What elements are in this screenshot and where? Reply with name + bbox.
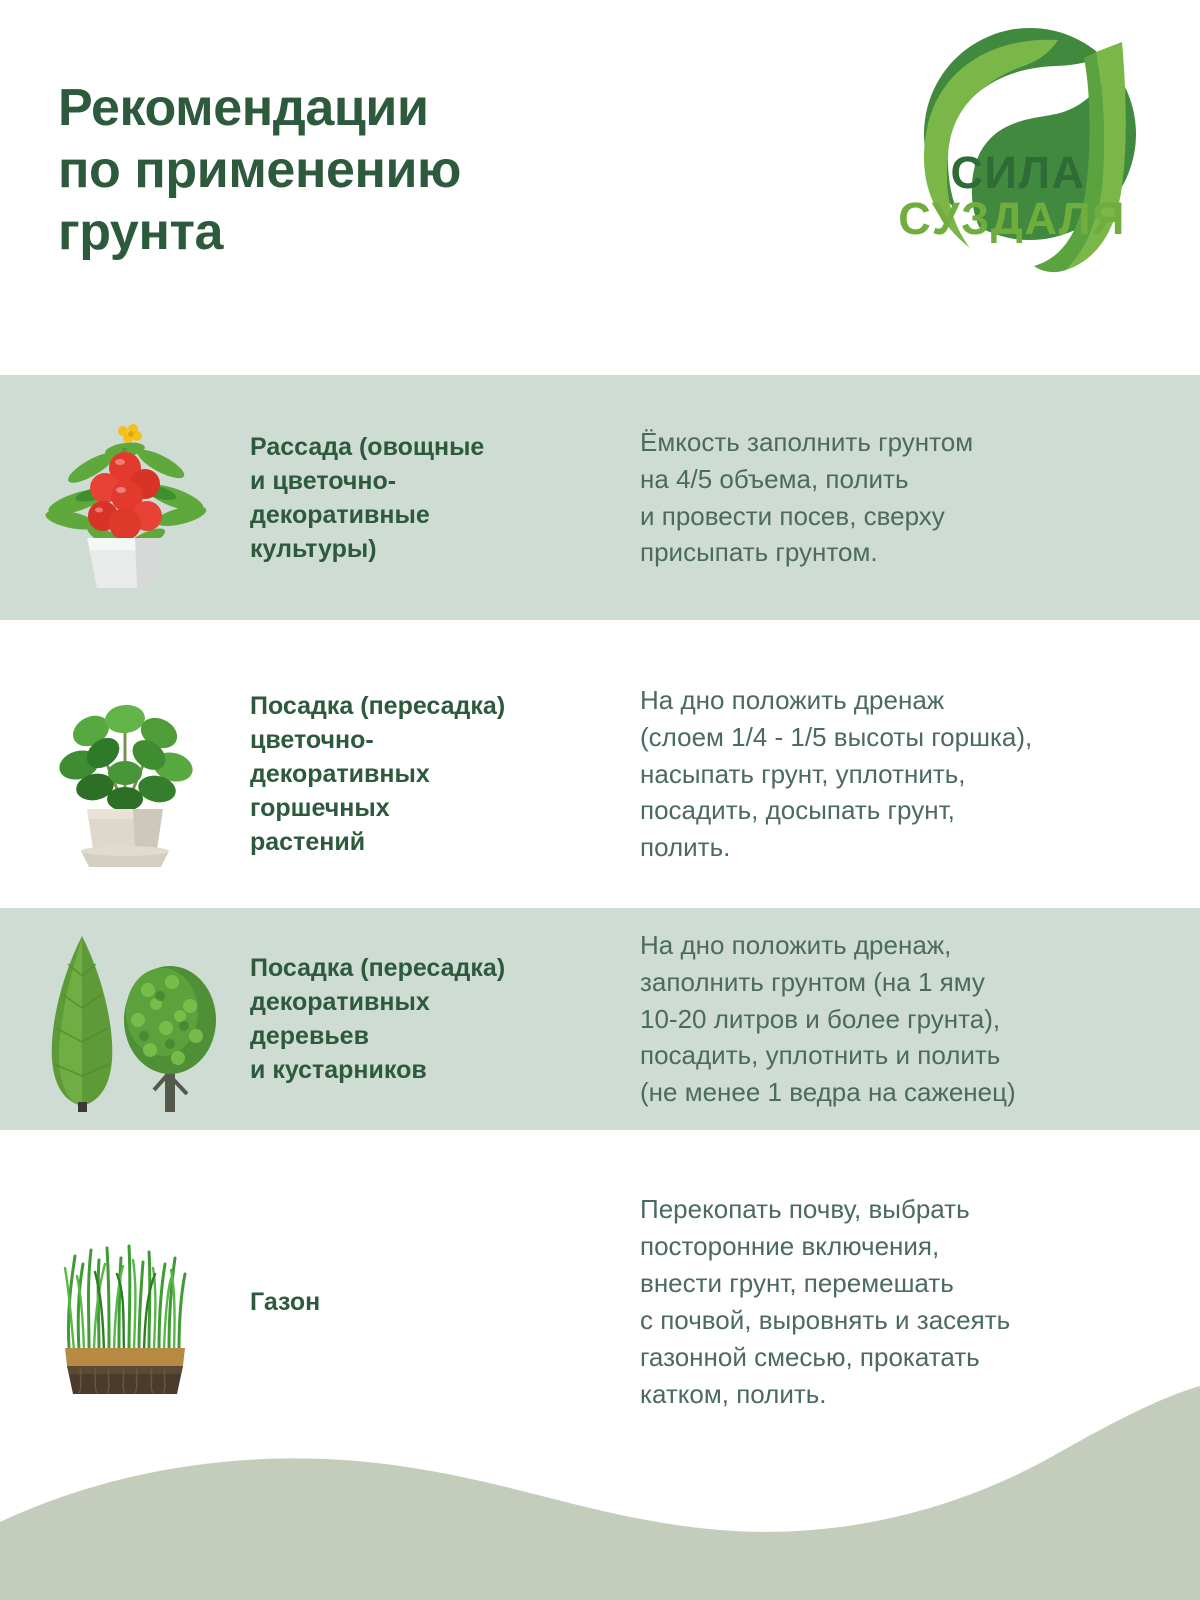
- row-label: Газон: [250, 1285, 640, 1319]
- row-description: На дно положить дренаж, заполнить грунто…: [640, 927, 1160, 1112]
- row-description: Ёмкость заполнить грунтом на 4/5 объема,…: [640, 424, 1160, 572]
- table-row: Посадка (пересадка) декоративных деревье…: [0, 908, 1200, 1130]
- logo-line-2: СУЗДАЛЯ: [898, 193, 1126, 244]
- row-label: Посадка (пересадка) цветочно- декоративн…: [250, 689, 640, 859]
- row-image-potted-houseplant: [0, 640, 250, 908]
- recommendation-list: Рассада (овощные и цветочно- декоративны…: [0, 375, 1200, 1452]
- row-label: Посадка (пересадка) декоративных деревье…: [250, 951, 640, 1087]
- row-label: Рассада (овощные и цветочно- декоративны…: [250, 430, 640, 566]
- row-gap: [0, 620, 1200, 640]
- brand-logo: СИЛА СУЗДАЛЯ: [890, 18, 1158, 280]
- table-row: Рассада (овощные и цветочно- декоративны…: [0, 375, 1200, 620]
- row-description: На дно положить дренаж (слоем 1/4 - 1/5 …: [640, 682, 1160, 867]
- table-row: Посадка (пересадка) цветочно- декоративн…: [0, 640, 1200, 908]
- table-row: Газон Перекопать почву, выбрать посторон…: [0, 1152, 1200, 1452]
- row-image-lawn-turf-block: [0, 1152, 250, 1452]
- logo-line-1: СИЛА: [951, 147, 1086, 198]
- row-image-tomato-seedling-in-pot: [0, 375, 250, 620]
- row-image-decorative-trees-and-shrubs: [0, 908, 250, 1130]
- page-header: Рекомендации по применению грунта СИЛА С…: [0, 0, 1200, 375]
- page-title: Рекомендации по применению грунта: [58, 78, 461, 264]
- row-description: Перекопать почву, выбрать посторонние вк…: [640, 1191, 1160, 1412]
- row-gap: [0, 1130, 1200, 1152]
